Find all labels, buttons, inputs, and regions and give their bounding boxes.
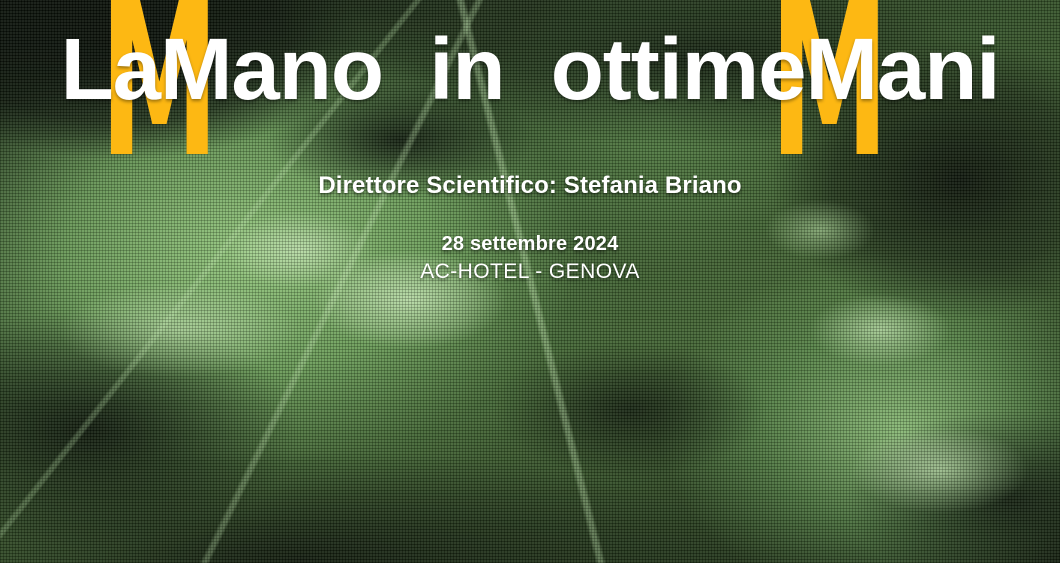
poster-title: M M LaMano in ottimeMani xyxy=(0,0,1060,140)
scientific-director-line: Direttore Scientifico: Stefania Briano xyxy=(0,172,1060,200)
poster-title-text: LaMano in ottimeMani xyxy=(0,0,1060,140)
event-venue-line: AC-HOTEL - GENOVA xyxy=(0,260,1060,284)
event-poster: M M LaMano in ottimeMani Direttore Scien… xyxy=(0,0,1060,563)
event-date-line: 28 settembre 2024 xyxy=(0,233,1060,256)
